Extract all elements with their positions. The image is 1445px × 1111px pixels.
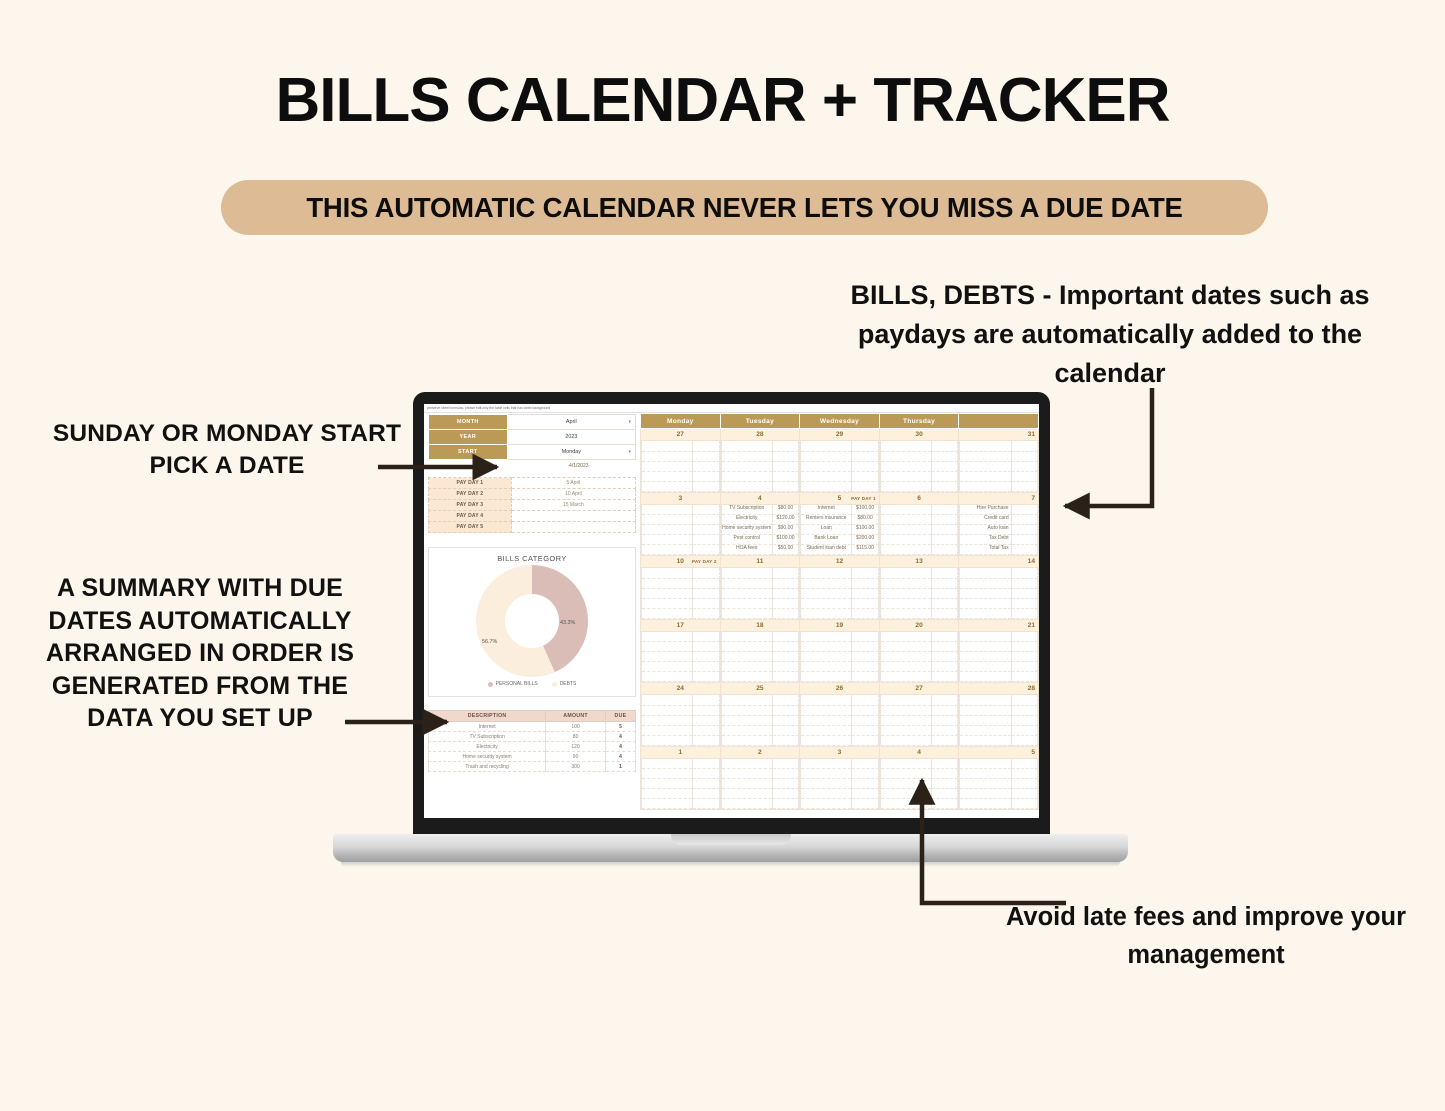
calendar-entry-amount [1011, 799, 1037, 809]
calendar-day-cell[interactable]: 28 [720, 429, 800, 441]
calendar-entry-row [721, 759, 799, 769]
calendar-entry-amount [931, 568, 957, 578]
legend-swatch [488, 682, 493, 687]
calendar-day-cell[interactable]: 12 [800, 556, 880, 568]
calendar-entry-row [721, 789, 799, 799]
calendar-entry-row [801, 471, 879, 481]
bills-cell: 5 [605, 722, 635, 732]
calendar-entry-name [960, 779, 1011, 789]
calendar-entry-row: TV Subscription$80.00 [721, 505, 799, 515]
calendar-entry-name [642, 735, 693, 745]
calendar-entry-amount [852, 598, 878, 608]
calendar-entry-amount [772, 695, 798, 705]
calendar-entry-row [960, 735, 1038, 745]
calendar-entry-name [960, 705, 1011, 715]
calendar-entry-amount [1011, 461, 1037, 471]
calendar-entries-cell[interactable] [959, 758, 1039, 810]
calendar-entry-name [801, 652, 852, 662]
settings-value-year[interactable]: 2023 [507, 430, 635, 445]
calendar-entry-row [801, 481, 879, 491]
calendar-entry-amount [693, 779, 719, 789]
calendar-entry-row [960, 578, 1038, 588]
calendar-entries-cell[interactable] [720, 631, 800, 683]
calendar-entry-amount [772, 735, 798, 745]
calendar-entry-name [801, 779, 852, 789]
calendar-entry-name [801, 799, 852, 809]
calendar-entry-name [880, 662, 931, 672]
calendar-entry-name [880, 451, 931, 461]
calendar-entry-row [801, 642, 879, 652]
calendar-entry-row [960, 642, 1038, 652]
calendar-entry-row [880, 705, 958, 715]
calendar-entry-row [960, 695, 1038, 705]
calendar-entry-name [721, 441, 772, 451]
calendar-entry-name [801, 642, 852, 652]
calendar-daynum-row: 2425262728 [641, 683, 1039, 695]
payday-row: PAY DAY 210 April [429, 489, 636, 500]
calendar-entry-table [641, 505, 720, 556]
calendar-day-number: 17 [641, 620, 720, 631]
calendar-day-cell[interactable]: 24 [641, 683, 721, 695]
chevron-down-icon[interactable]: ▾ [628, 449, 631, 455]
calendar-entry-name [880, 568, 931, 578]
calendar-entry-row [721, 662, 799, 672]
calendar-entry-table [880, 568, 959, 619]
calendar-entry-row [880, 662, 958, 672]
calendar-entry-table: Internet$100.00Renters insurance$80.00Lo… [800, 505, 879, 556]
calendar-entry-amount [931, 759, 957, 769]
calendar-entry-name [960, 608, 1011, 618]
settings-value-month[interactable]: April▾ [507, 415, 635, 430]
bills-header-row: DESCRIPTIONAMOUNTDUE [429, 711, 636, 722]
calendar-entry-amount [1011, 735, 1037, 745]
payday-row: PAY DAY 5 [429, 522, 636, 533]
calendar-day-cell[interactable]: 4 [720, 492, 800, 504]
calendar-entry-name: Credit card [960, 515, 1011, 525]
calendar-entries-cell[interactable] [641, 441, 721, 493]
calendar-entry-row [801, 799, 879, 809]
settings-value-start[interactable]: Monday▾ [507, 445, 635, 460]
calendar-entry-amount [1011, 715, 1037, 725]
calendar-entries-row [641, 441, 1039, 493]
calendar-entry-name [880, 725, 931, 735]
calendar-entry-amount [772, 608, 798, 618]
payday-value[interactable]: 10 April [511, 489, 635, 500]
calendar-entry-name [960, 652, 1011, 662]
calendar-day-cell[interactable]: 28 [959, 683, 1039, 695]
payday-value[interactable]: 15 March [511, 500, 635, 511]
calendar-entry-row [880, 515, 958, 525]
calendar-entry-name [721, 598, 772, 608]
calendar-entry-name [801, 471, 852, 481]
calendar-entry-row [801, 779, 879, 789]
calendar-day-cell[interactable]: 7 [959, 492, 1039, 504]
calendar-day-cell[interactable]: 20 [879, 619, 959, 631]
chart-title: BILLS CATEGORY [433, 554, 631, 563]
calendar-entry-row: Renters insurance$80.00 [801, 515, 879, 525]
calendar-day-cell[interactable]: 10PAY DAY 2 [641, 556, 721, 568]
calendar-day-cell[interactable]: 3 [800, 746, 880, 758]
calendar-entry-name [960, 759, 1011, 769]
calendar-entry-row [960, 779, 1038, 789]
calendar-entry-amount [693, 759, 719, 769]
calendar-entries-cell[interactable] [800, 758, 880, 810]
calendar-entries-cell[interactable] [641, 568, 721, 620]
calendar-entries-cell[interactable] [879, 441, 959, 493]
calendar-entry-name [721, 779, 772, 789]
calendar-entry-row [801, 632, 879, 642]
calendar-entry-amount: $200.00 [852, 535, 878, 545]
calendar-entry-table [800, 759, 879, 810]
calendar-entry-amount [693, 608, 719, 618]
calendar-entry-amount [931, 705, 957, 715]
calendar-entry-name [880, 789, 931, 799]
calendar-entry-row: Bank Loan$200.00 [801, 535, 879, 545]
calendar-entry-name [721, 568, 772, 578]
paydays-table-body: PAY DAY 15 AprilPAY DAY 210 AprilPAY DAY… [429, 478, 636, 533]
calendar-entry-row [721, 672, 799, 682]
calendar-entry-amount [852, 662, 878, 672]
calendar-entry-name [721, 642, 772, 652]
calendar-entry-row [721, 598, 799, 608]
calendar-entry-name [880, 461, 931, 471]
calendar-entry-name [801, 695, 852, 705]
calendar-entry-name [880, 578, 931, 588]
calendar-day-cell[interactable]: 3 [641, 492, 721, 504]
calendar-entries-cell[interactable] [720, 568, 800, 620]
calendar-entries-cell[interactable] [879, 504, 959, 556]
calendar-entry-name [960, 789, 1011, 799]
calendar-entry-name [880, 535, 931, 545]
calendar-entry-row [880, 735, 958, 745]
calendar-entry-name [960, 662, 1011, 672]
calendar-entries-cell[interactable]: Internet$100.00Renters insurance$80.00Lo… [800, 504, 880, 556]
calendar-entry-amount [931, 632, 957, 642]
chevron-down-icon[interactable]: ▾ [628, 419, 631, 425]
calendar-entry-name [880, 652, 931, 662]
calendar-entries-cell[interactable] [879, 568, 959, 620]
calendar-entry-amount [1011, 525, 1037, 535]
calendar-day-cell[interactable]: 25 [720, 683, 800, 695]
calendar-entry-row [642, 588, 720, 598]
calendar-entry-amount [693, 705, 719, 715]
calendar-entry-table [641, 568, 720, 619]
payday-value[interactable]: 5 April [511, 478, 635, 489]
calendar-entry-row [721, 779, 799, 789]
calendar-day-cell[interactable]: 18 [720, 619, 800, 631]
calendar-entries-cell[interactable] [959, 631, 1039, 683]
calendar-entry-name [721, 725, 772, 735]
calendar-entry-name [880, 799, 931, 809]
calendar-entry-name [801, 598, 852, 608]
calendar-entries-cell[interactable] [641, 758, 721, 810]
calendar-entry-name [642, 588, 693, 598]
calendar-entry-name [642, 632, 693, 642]
calendar-entry-name [642, 598, 693, 608]
calendar-entry-amount [931, 505, 957, 515]
payday-value[interactable] [511, 511, 635, 522]
calendar-entry-name [801, 662, 852, 672]
subtitle-text: THIS AUTOMATIC CALENDAR NEVER LETS YOU M… [306, 192, 1182, 224]
calendar-day-number: 20 [880, 620, 959, 631]
calendar-entry-name [642, 769, 693, 779]
legend-label: DEBTS [560, 681, 577, 687]
calendar-entries-cell[interactable] [879, 695, 959, 747]
calendar-entry-amount [693, 588, 719, 598]
calendar-entry-name [642, 759, 693, 769]
settings-table-body: MONTHApril▾YEAR2023STARTMonday▾ [429, 415, 636, 460]
calendar-entry-table [641, 632, 720, 683]
calendar-entry-name: Auto loan [960, 525, 1011, 535]
calendar-entry-row [642, 799, 720, 809]
calendar-entry-amount [772, 672, 798, 682]
calendar-entries-cell[interactable] [959, 568, 1039, 620]
donut-hole [505, 594, 559, 648]
calendar-entry-amount [852, 441, 878, 451]
calendar-day-cell[interactable]: 13 [879, 556, 959, 568]
calendar-entry-name: Bank Loan [801, 535, 852, 545]
calendar-entry-name [960, 799, 1011, 809]
calendar-entry-amount [852, 608, 878, 618]
calendar-entry-row [880, 769, 958, 779]
calendar-entry-amount: $80.00 [852, 515, 878, 525]
calendar-entries-cell[interactable] [879, 758, 959, 810]
calendar-entry-amount [772, 632, 798, 642]
calendar-entry-row [721, 578, 799, 588]
calendar-entry-amount [1011, 779, 1037, 789]
calendar-entries-cell[interactable] [800, 631, 880, 683]
calendar-entry-row [642, 759, 720, 769]
paydays-table: PAY DAY 15 AprilPAY DAY 210 AprilPAY DAY… [428, 477, 636, 533]
calendar-entry-name [880, 695, 931, 705]
calendar-entry-amount [931, 695, 957, 705]
calendar-entry-name [721, 471, 772, 481]
calendar-entry-row [801, 441, 879, 451]
calendar-entry-amount [931, 481, 957, 491]
calendar-entry-name [721, 461, 772, 471]
calendar-entry-name [642, 525, 693, 535]
calendar-entry-name [801, 725, 852, 735]
calendar-entry-amount: $120.00 [772, 515, 798, 525]
calendar-entry-row [721, 588, 799, 598]
calendar-day-cell[interactable]: 5PAY DAY 1 [800, 492, 880, 504]
calendar-entry-row [642, 598, 720, 608]
calendar-day-cell[interactable]: 1 [641, 746, 721, 758]
calendar-entry-row [880, 695, 958, 705]
calendar-entry-row [721, 632, 799, 642]
calendar-entry-row [721, 799, 799, 809]
calendar-payday-tag: PAY DAY 1 [851, 493, 876, 504]
calendar-entry-name [880, 672, 931, 682]
calendar-day-header: Tuesday [720, 414, 800, 429]
legend-item: DEBTS [552, 681, 577, 687]
bills-summary-table: DESCRIPTIONAMOUNTDUE Internet1005TV Subs… [428, 710, 636, 772]
calendar-day-cell[interactable]: 21 [959, 619, 1039, 631]
calendar-entries-cell[interactable] [720, 441, 800, 493]
payday-value[interactable] [511, 522, 635, 533]
calendar-entry-name [801, 461, 852, 471]
payday-row: PAY DAY 4 [429, 511, 636, 522]
calendar-entries-cell[interactable] [641, 695, 721, 747]
calendar-day-number: 11 [721, 556, 800, 567]
calendar-day-number: 4 [880, 747, 959, 758]
calendar-entry-amount [693, 695, 719, 705]
calendar-entry-amount [931, 525, 957, 535]
calendar-entry-row [880, 642, 958, 652]
calendar-entry-amount [1011, 642, 1037, 652]
calendar-entry-table [959, 695, 1038, 746]
donut-wrap: 43.3% 56.7% [476, 565, 588, 677]
calendar-entry-amount [931, 769, 957, 779]
calendar-entry-name [801, 568, 852, 578]
calendar-entry-row [880, 632, 958, 642]
calendar-entry-amount [852, 672, 878, 682]
calendar-entry-row [960, 672, 1038, 682]
calendar-day-cell[interactable]: 14 [959, 556, 1039, 568]
calendar-entries-cell[interactable] [800, 568, 880, 620]
calendar-entry-row [801, 662, 879, 672]
calendar-entries-cell[interactable]: Hire PurchaseCredit cardAuto loanTax Deb… [959, 504, 1039, 556]
calendar-day-number: 28 [721, 429, 800, 440]
calendar-entry-row [642, 578, 720, 588]
calendar-entries-cell[interactable] [720, 758, 800, 810]
calendar-day-cell[interactable]: 2 [720, 746, 800, 758]
calendar-entry-name [880, 515, 931, 525]
calendar-entry-name [801, 735, 852, 745]
calendar-entry-amount [693, 568, 719, 578]
calendar-entries-cell[interactable] [720, 695, 800, 747]
calendar-daynum-row: 12345 [641, 746, 1039, 758]
calendar-entry-name: Internet [801, 505, 852, 515]
calendar-entry-row [960, 715, 1038, 725]
calendar-entries-cell[interactable] [800, 695, 880, 747]
calendar-entries-cell[interactable] [641, 504, 721, 556]
calendar-entry-amount [693, 799, 719, 809]
calendar-day-cell[interactable]: 29 [800, 429, 880, 441]
calendar-entry-name [801, 759, 852, 769]
donut-value-2: 56.7% [482, 639, 497, 645]
settings-row: MONTHApril▾ [429, 415, 636, 430]
calendar-entry-name [642, 662, 693, 672]
calendar-entry-name [642, 715, 693, 725]
calendar-entry-name [960, 588, 1011, 598]
calendar-entry-table [800, 568, 879, 619]
bills-cell: 80 [546, 732, 606, 742]
calendar-entries-cell[interactable] [879, 631, 959, 683]
calendar-entry-amount [772, 715, 798, 725]
calendar-day-cell[interactable]: 26 [800, 683, 880, 695]
calendar-day-cell[interactable]: 6 [879, 492, 959, 504]
calendar-entry-row [880, 471, 958, 481]
calendar-entry-row [642, 652, 720, 662]
calendar-entry-amount [931, 515, 957, 525]
calendar-entry-name [642, 672, 693, 682]
calendar-entries-cell[interactable] [641, 631, 721, 683]
poster-canvas: BILLS CALENDAR + TRACKER THIS AUTOMATIC … [0, 0, 1445, 1111]
calendar-entry-amount [1011, 632, 1037, 642]
calendar-entry-row [880, 545, 958, 555]
calendar-entry-row [880, 535, 958, 545]
page-title: BILLS CALENDAR + TRACKER [0, 68, 1445, 133]
calendar-entry-name [721, 662, 772, 672]
calendar-entries-cell[interactable] [800, 441, 880, 493]
calendar-entry-name [960, 481, 1011, 491]
calendar-entry-amount: $80.00 [772, 505, 798, 515]
calendar-entry-name: Home security system [721, 525, 772, 535]
formula-row: 4 4/1/2023 [428, 460, 636, 475]
calendar-entry-amount [693, 471, 719, 481]
bills-cell: 4 [605, 742, 635, 752]
calendar-entry-row: Student loan debt$115.00 [801, 545, 879, 555]
calendar-entry-row [642, 535, 720, 545]
calendar-body: 2728293031345PAY DAY 167TV Subscription$… [641, 429, 1039, 810]
calendar-entry-amount [772, 652, 798, 662]
calendar-entries-cell[interactable] [959, 441, 1039, 493]
calendar-entry-amount [931, 799, 957, 809]
calendar-entries-cell[interactable]: TV Subscription$80.00Electricity$120.00H… [720, 504, 800, 556]
bills-column-header: AMOUNT [546, 711, 606, 722]
bills-cell: Home security system [429, 752, 546, 762]
calendar-entry-amount [772, 471, 798, 481]
calendar-entry-name [721, 632, 772, 642]
chart-legend: PERSONAL BILLSDEBTS [433, 681, 631, 687]
calendar-entry-name: Student loan debt [801, 545, 852, 555]
calendar-entry-name [960, 598, 1011, 608]
calendar-entry-row [721, 769, 799, 779]
calendar-day-cell[interactable]: 19 [800, 619, 880, 631]
calendar-entry-amount: $90.00 [772, 525, 798, 535]
spreadsheet-right-pane: MondayTuesdayWednesdayThursday 272829303… [640, 404, 1039, 818]
calendar-day-cell[interactable]: 11 [720, 556, 800, 568]
calendar-entry-row [721, 725, 799, 735]
calendar-day-cell[interactable]: 4 [879, 746, 959, 758]
calendar-entry-amount [772, 441, 798, 451]
calendar-day-cell[interactable]: 5 [959, 746, 1039, 758]
calendar-entry-amount [693, 672, 719, 682]
calendar-entry-amount [772, 481, 798, 491]
calendar-entry-amount [693, 535, 719, 545]
calendar-entry-amount [852, 725, 878, 735]
calendar-entry-name [801, 632, 852, 642]
laptop-screen: preserve sheet formulas, please edit onl… [424, 404, 1039, 818]
calendar-entry-amount [693, 545, 719, 555]
calendar-day-cell[interactable]: 27 [879, 683, 959, 695]
calendar-entry-amount [693, 735, 719, 745]
calendar-entry-amount [1011, 451, 1037, 461]
calendar-day-cell[interactable]: 30 [879, 429, 959, 441]
calendar-day-cell[interactable]: 17 [641, 619, 721, 631]
calendar-entries-cell[interactable] [959, 695, 1039, 747]
calendar-day-cell[interactable]: 27 [641, 429, 721, 441]
table-row: Home security system904 [429, 752, 636, 762]
calendar-entry-amount [931, 608, 957, 618]
calendar-entry-row [721, 695, 799, 705]
calendar-entry-row [642, 662, 720, 672]
calendar-entry-row [801, 695, 879, 705]
calendar-entry-amount [931, 672, 957, 682]
calendar-entry-row [721, 642, 799, 652]
calendar-entry-name [721, 588, 772, 598]
calendar-day-cell[interactable]: 31 [959, 429, 1039, 441]
calendar-daynum-row: 345PAY DAY 167 [641, 492, 1039, 504]
calendar-table: MondayTuesdayWednesdayThursday 272829303… [640, 413, 1039, 810]
calendar-entry-amount [1011, 598, 1037, 608]
spreadsheet: MONTHApril▾YEAR2023STARTMonday▾ 4 4/1/20… [424, 404, 1039, 818]
calendar-entry-name [801, 588, 852, 598]
calendar-entry-row [880, 652, 958, 662]
calendar-day-header [959, 414, 1039, 429]
calendar-entry-amount [772, 705, 798, 715]
